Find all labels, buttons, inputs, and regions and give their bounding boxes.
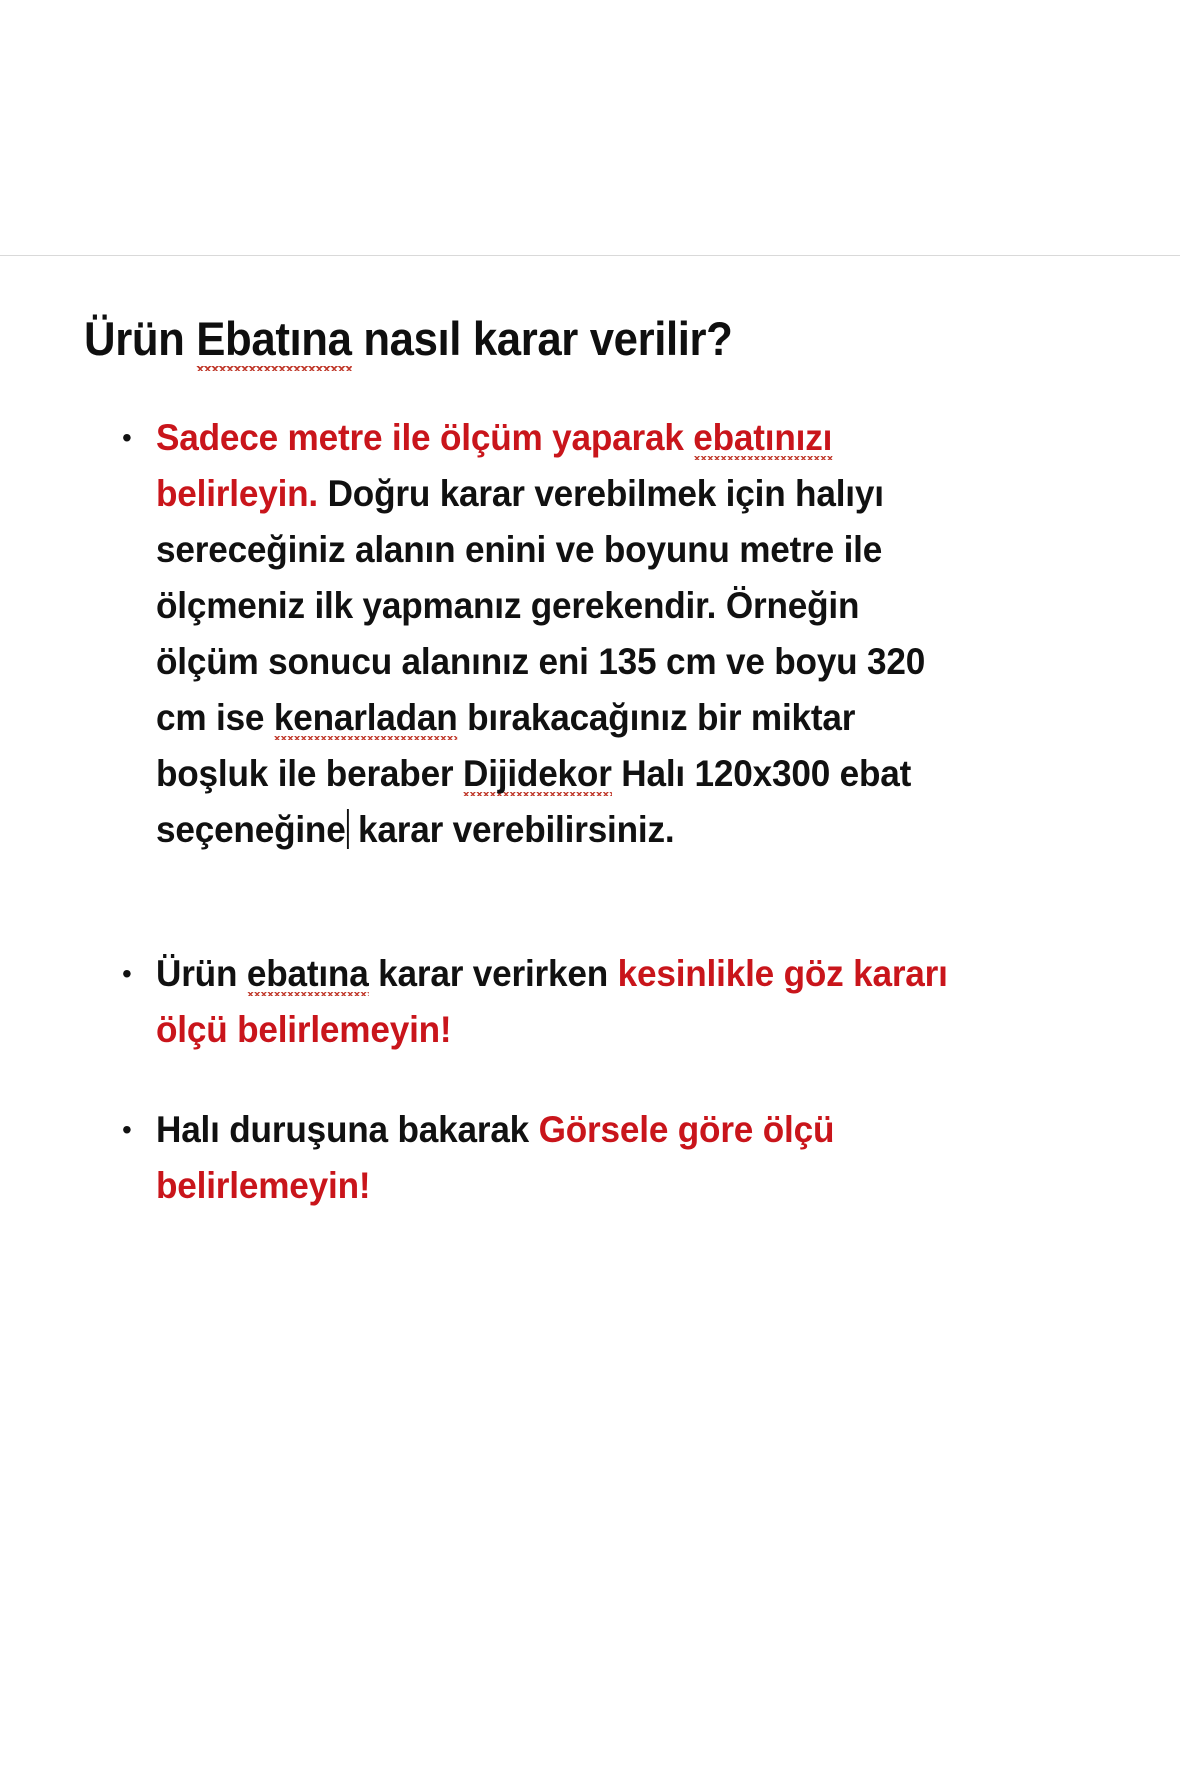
- text-run: karar verebilirsiniz.: [348, 809, 674, 850]
- bullet-3-text: Halı duruşuna bakarak Görsele göre ölçü …: [156, 1102, 956, 1214]
- list-item: • Sadece metre ile ölçüm yaparak ebatını…: [118, 410, 998, 858]
- list-item: • Ürün ebatına karar verirken kesinlikle…: [118, 946, 998, 1058]
- bullet-marker-icon: •: [118, 410, 156, 466]
- bullet-marker-icon: •: [118, 1102, 156, 1158]
- bullet-marker-icon: •: [118, 946, 156, 1002]
- misspelled-word: kenarladan: [274, 697, 458, 742]
- misspelled-word: ebatına: [247, 953, 369, 998]
- spacer-2: [118, 1058, 998, 1102]
- title-misspelled-word: Ebatına: [196, 312, 351, 371]
- text-run: karar verirken: [369, 953, 618, 994]
- bullet-2-text: Ürün ebatına karar verirken kesinlikle g…: [156, 946, 956, 1058]
- bullet-1-text: Sadece metre ile ölçüm yaparak ebatınızı…: [156, 410, 956, 858]
- misspelled-word: ebatınızı: [693, 417, 832, 462]
- spacer-1: [118, 858, 998, 946]
- text-run: Sadece metre ile ölçüm yaparak: [156, 417, 693, 458]
- list-item: • Halı duruşuna bakarak Görsele göre ölç…: [118, 1102, 998, 1214]
- text-run: belirleyin.: [156, 473, 318, 514]
- text-run: Halı duruşuna bakarak: [156, 1109, 539, 1150]
- misspelled-word: Dijidekor: [463, 753, 612, 798]
- slide-body: • Sadece metre ile ölçüm yaparak ebatını…: [118, 410, 998, 1214]
- text-run: Ürün: [156, 953, 247, 994]
- title-text-after: nasıl karar verilir?: [352, 312, 733, 365]
- slide-title: Ürün Ebatına nasıl karar verilir?: [84, 311, 733, 366]
- title-text-before: Ürün: [84, 312, 196, 365]
- slide-canvas: Ürün Ebatına nasıl karar verilir? • Sade…: [0, 256, 1180, 1770]
